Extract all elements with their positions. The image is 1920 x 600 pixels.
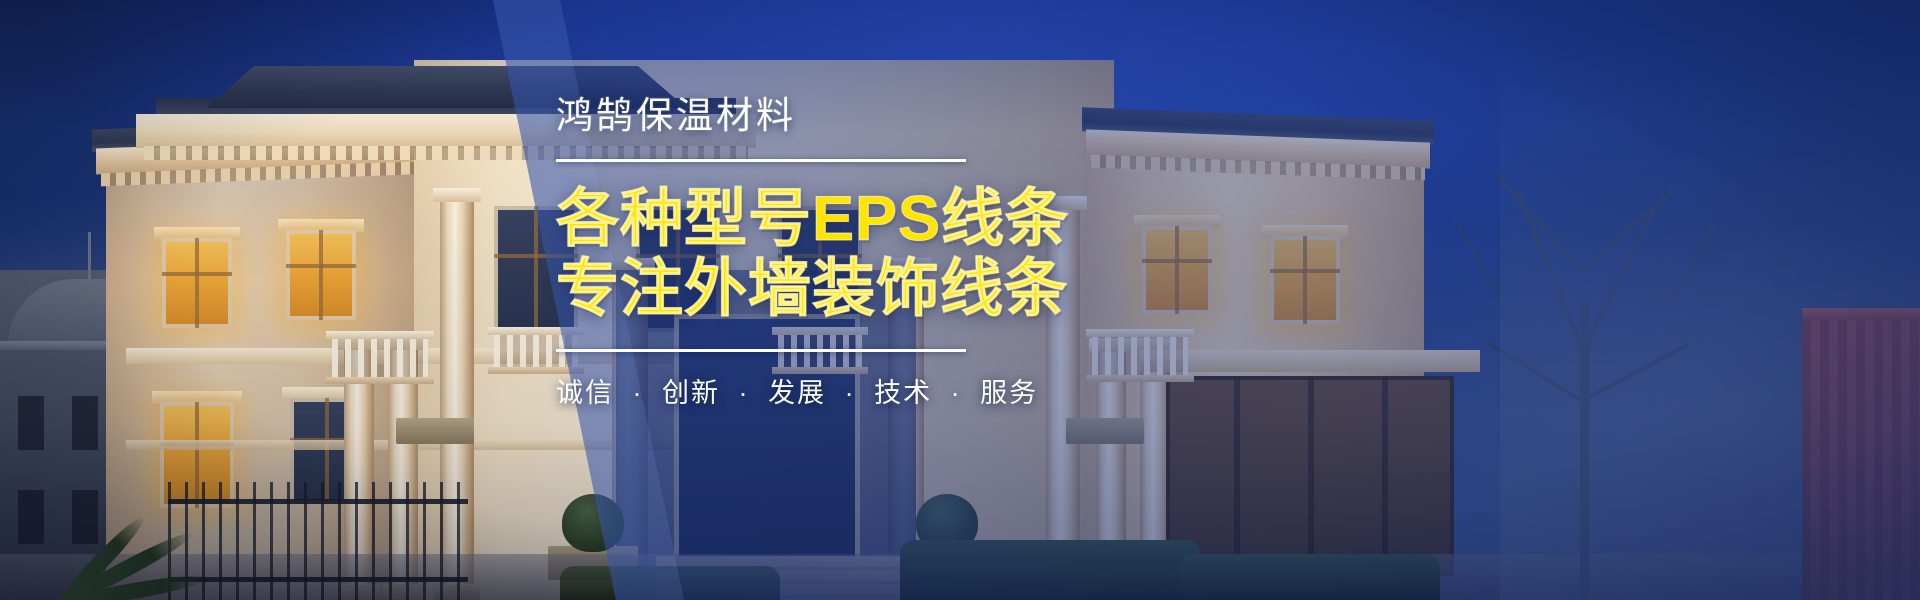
tagline-separator: ·	[845, 378, 856, 408]
divider-bottom-wrap	[556, 349, 1116, 352]
headline-line-2: 专注外墙装饰线条	[556, 254, 1116, 325]
headline-line-1: 各种型号EPS线条	[556, 184, 1116, 255]
tagline-item-5: 服务	[980, 378, 1038, 408]
tagline-separator: ·	[739, 378, 750, 408]
blue-overlay-right-fade	[1300, 0, 1920, 600]
banner-text-block: 鸿鹄保温材料 各种型号EPS线条 专注外墙装饰线条 诚信 · 创新 · 发展 ·…	[556, 96, 1116, 410]
divider-bottom	[556, 349, 966, 352]
tagline-separator: ·	[951, 378, 962, 408]
tagline-item-4: 技术	[874, 378, 932, 408]
tagline-separator: ·	[633, 378, 644, 408]
divider-top	[556, 159, 966, 162]
tagline-item-3: 发展	[768, 378, 826, 408]
tagline-item-2: 创新	[662, 378, 720, 408]
brand-name: 鸿鹄保温材料	[556, 96, 1116, 137]
promo-banner: 鸿鹄保温材料 各种型号EPS线条 专注外墙装饰线条 诚信 · 创新 · 发展 ·…	[0, 0, 1920, 600]
tagline-item-1: 诚信	[556, 378, 614, 408]
headline-group: 各种型号EPS线条 专注外墙装饰线条	[556, 184, 1116, 325]
tagline: 诚信 · 创新 · 发展 · 技术 · 服务	[556, 371, 1116, 410]
